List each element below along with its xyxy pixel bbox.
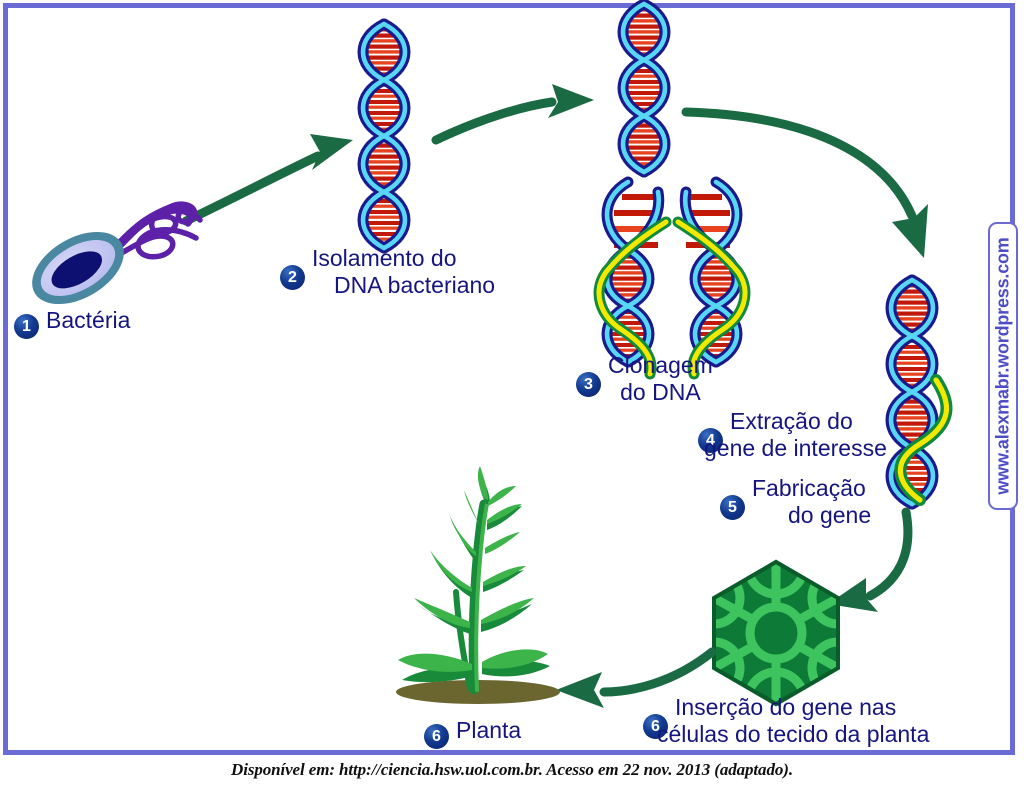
step-label-bacteria: 1Bactéria: [14, 306, 130, 339]
step-label-manufacture: 5Fabricaçãodo gene: [720, 475, 871, 529]
watermark-box: www.alexmabr.wordpress.com: [988, 222, 1018, 510]
step-text-insertion: Inserção do gene nascélulas do tecido da…: [675, 694, 929, 748]
step-badge-1: 1: [14, 314, 39, 339]
step-text-isolation: Isolamento doDNA bacteriano: [312, 245, 495, 299]
step-label-extraction: 4Extração dogene de interesse: [698, 408, 887, 462]
step-text-manufacture: Fabricaçãodo gene: [752, 475, 871, 529]
step-text-extraction: Extração dogene de interesse: [730, 408, 887, 462]
step-badge-2: 2: [280, 265, 305, 290]
step-badge-3: 3: [576, 372, 601, 397]
step-badge-plant: 6: [424, 724, 449, 749]
watermark-text: www.alexmabr.wordpress.com: [993, 237, 1014, 494]
step-text-cloning: Clonagemdo DNA: [608, 352, 713, 406]
source-caption: Disponível em: http://ciencia.hsw.uol.co…: [0, 760, 1024, 780]
step-label-plant: 6Planta: [424, 716, 521, 749]
step-text-plant: Planta: [456, 717, 521, 744]
step-label-insertion: 6Inserção do gene nascélulas do tecido d…: [643, 694, 929, 748]
diagram-stage: 1Bactéria 2Isolamento doDNA bacteriano 3…: [0, 0, 1024, 792]
step-label-isolation: 2Isolamento doDNA bacteriano: [280, 245, 495, 299]
step-text-bacteria: Bactéria: [46, 307, 130, 334]
step-label-cloning: 3Clonagemdo DNA: [576, 352, 713, 406]
step-badge-5: 5: [720, 495, 745, 520]
diagram-frame: [3, 3, 1015, 755]
